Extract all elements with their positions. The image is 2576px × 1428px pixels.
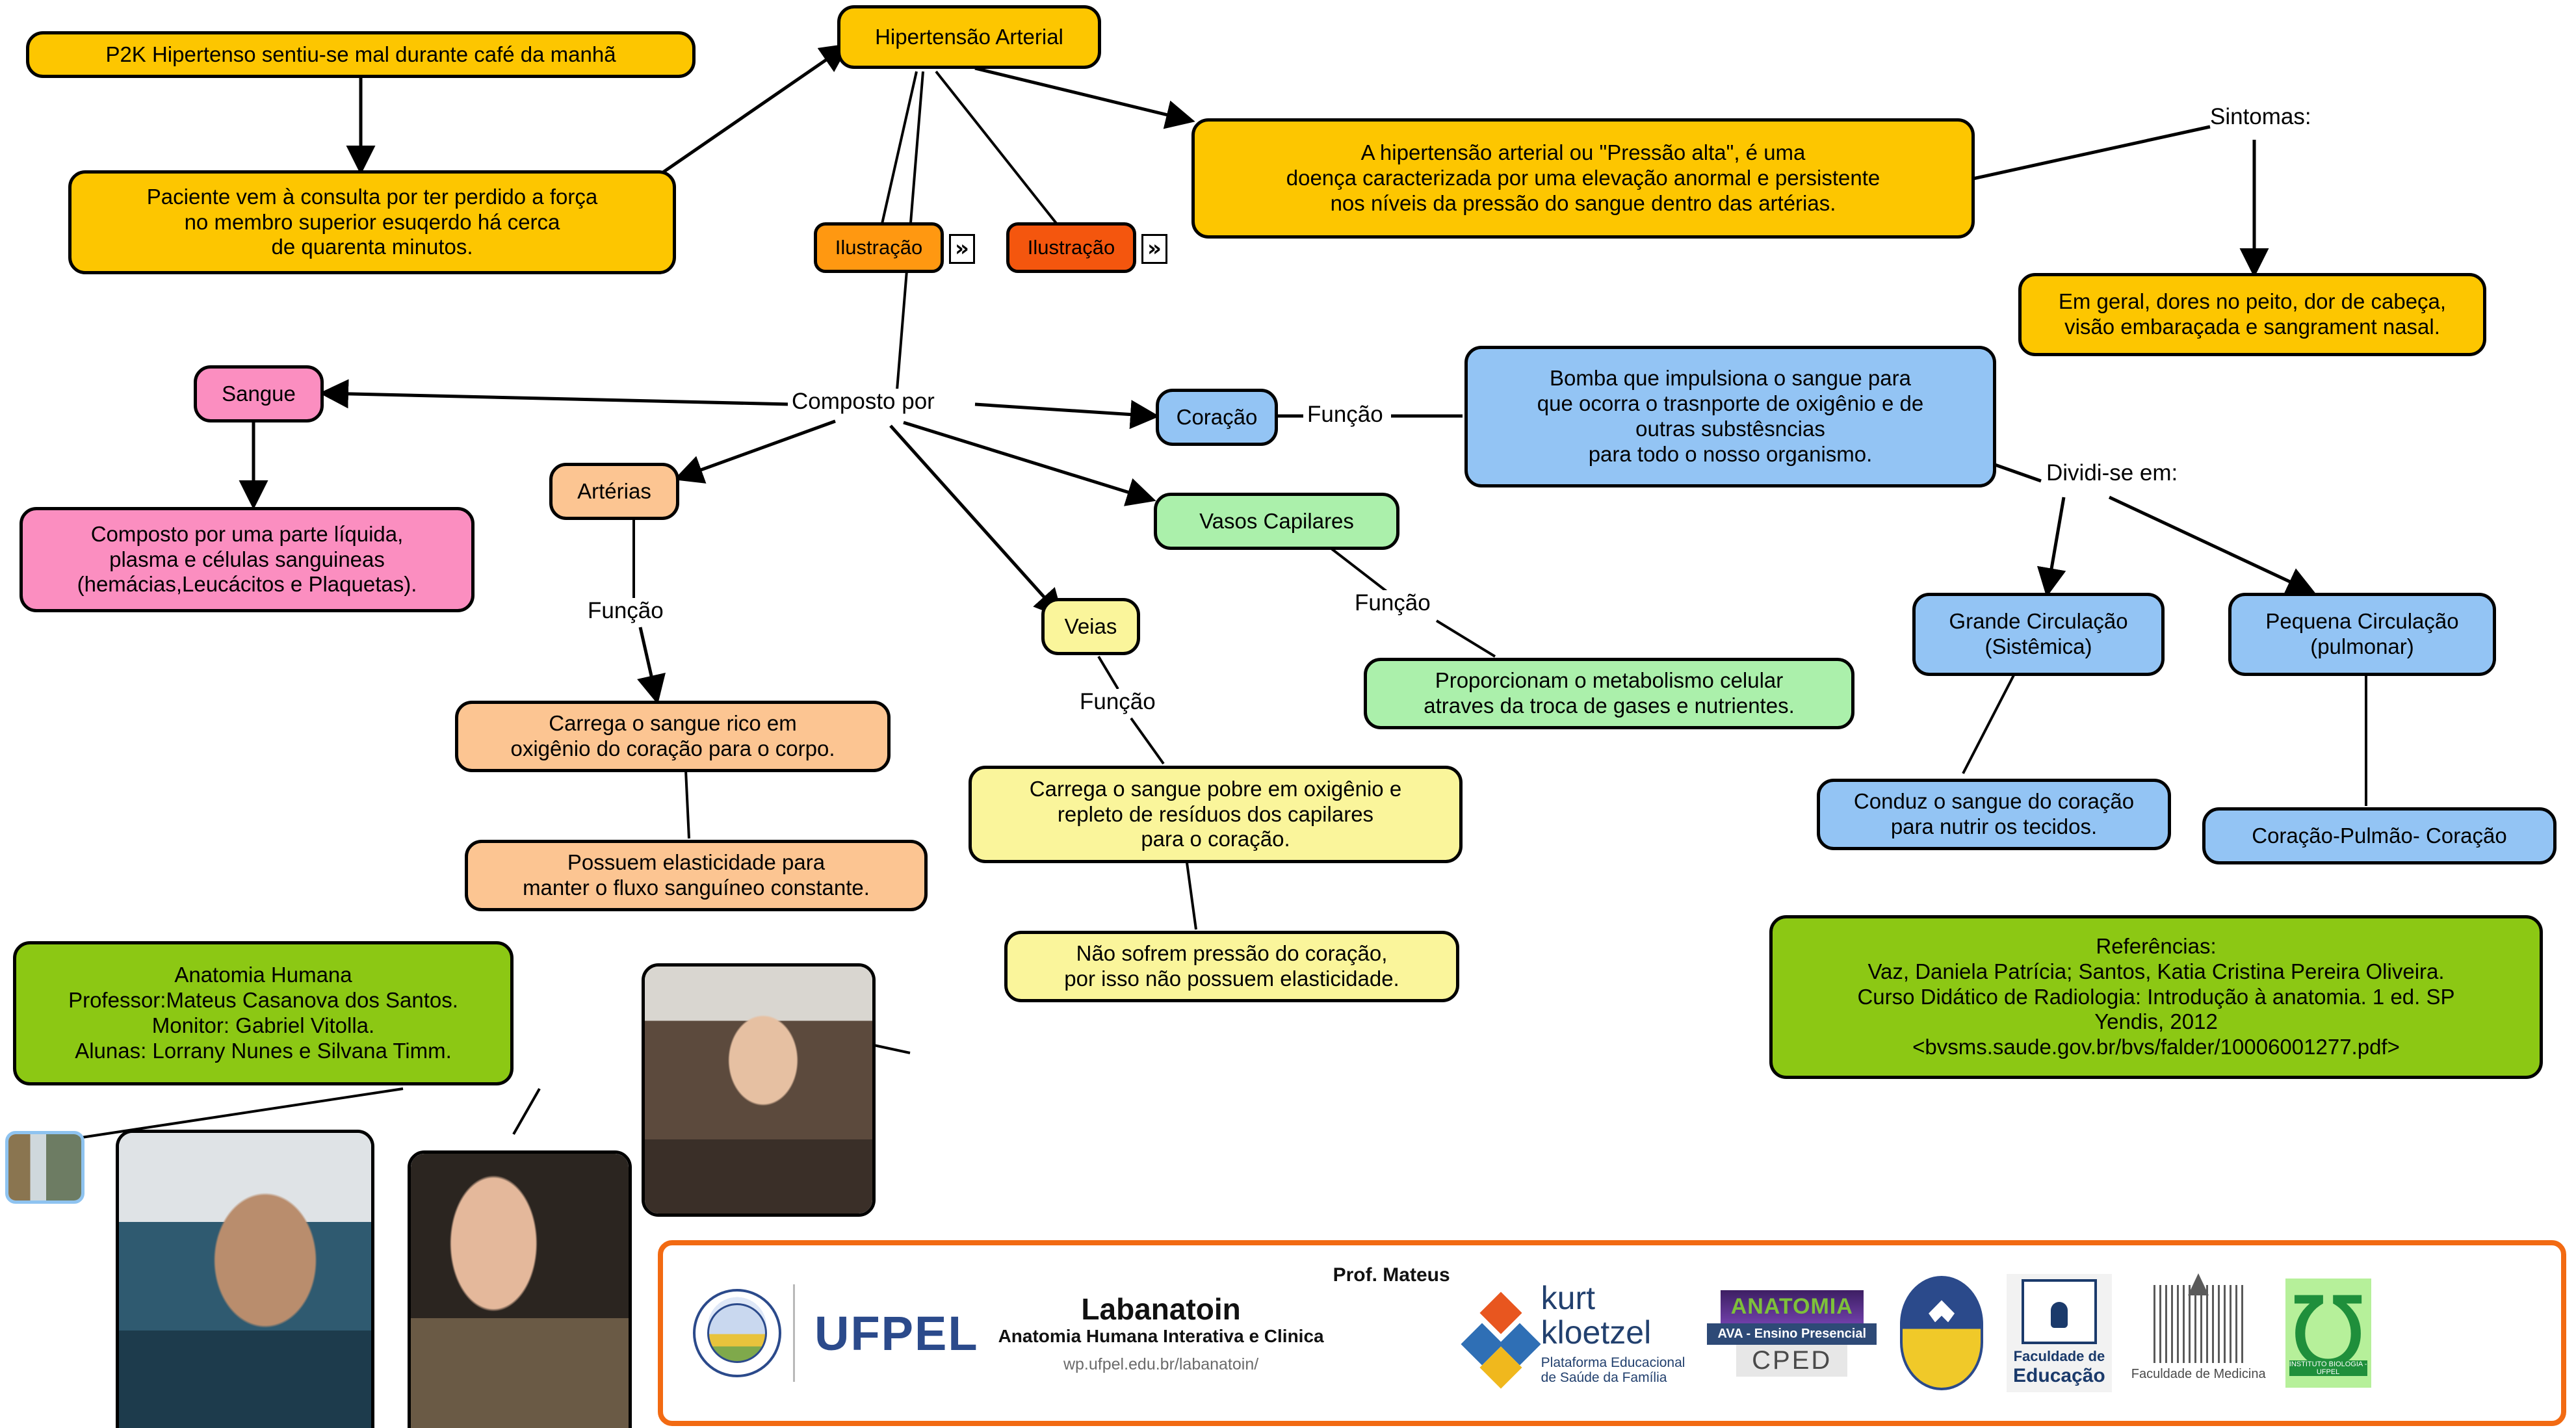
node-veias-funcao-2-label: Não sofrem pressão do coração, por isso … [1064, 941, 1399, 992]
node-sangue-label: Sangue [222, 382, 296, 407]
node-veias-label: Veias [1065, 614, 1117, 640]
node-coracao-funcao-1[interactable]: Bomba que impulsiona o sangue para que o… [1464, 346, 1996, 487]
node-sangue[interactable]: Sangue [194, 365, 324, 422]
kurt-diamond-icon [1467, 1293, 1535, 1373]
logo-ufpel-wordmark: UFPEL [814, 1245, 979, 1421]
node-coracao-label: Coração [1177, 405, 1258, 430]
logo-faculdade-medicina: Faculdade de Medicina [2131, 1245, 2266, 1421]
node-credits-label: Anatomia Humana Professor:Mateus Casanov… [68, 963, 458, 1064]
logo-faculdade-medicina-text: Faculdade de Medicina [2131, 1367, 2266, 1382]
node-veias-funcao-2[interactable]: Não sofrem pressão do coração, por isso … [1004, 931, 1459, 1002]
node-grande-circulacao-description-label: Conduz o sangue do coração para nutrir o… [1854, 789, 2134, 840]
node-root-hipertensao[interactable]: Hipertensão Arterial [837, 5, 1101, 69]
node-sangue-description[interactable]: Composto por uma parte líquida, plasma e… [20, 507, 475, 612]
photo-monitor[interactable] [116, 1130, 374, 1428]
resource-chevron-icon-2[interactable] [1141, 234, 1167, 264]
logo-anatomia-cped: ANATOMIA AVA - Ensino Presencial CPED [1707, 1245, 1877, 1421]
node-patient[interactable]: Paciente vem à consulta por ter perdido … [68, 170, 676, 274]
node-capilares-funcao-1[interactable]: Proporcionam o metabolismo celular atrav… [1364, 658, 1854, 729]
node-symptoms-label: Em geral, dores no peito, dor de cabeça,… [2059, 289, 2446, 340]
photo-thumbnail-small[interactable] [5, 1131, 85, 1204]
node-credits[interactable]: Anatomia Humana Professor:Mateus Casanov… [13, 941, 514, 1085]
logo-instituto-biologia: ℧ INSTITUTO BIOLOGIA - UFPEL [2285, 1245, 2371, 1421]
node-arterias-funcao-1[interactable]: Carrega o sangue rico em oxigênio do cor… [455, 701, 891, 772]
concept-map-canvas: P2K Hipertenso sentiu-se mal durante caf… [0, 0, 2576, 1428]
logo-ufpel-seal [693, 1245, 781, 1421]
logo-anatomia-title: ANATOMIA [1721, 1290, 1864, 1323]
node-arterias[interactable]: Artérias [549, 463, 679, 520]
node-ilustracao-1-label: Ilustração [835, 236, 922, 260]
faculdade-medicina-building-icon [2150, 1285, 2247, 1363]
logo-labanatoin-url: wp.ufpel.edu.br/labanatoin/ [1063, 1355, 1258, 1373]
photo-thumbnail-image [8, 1134, 81, 1201]
logo-kurt-kloetzel: kurt kloetzel Plataforma Educacional de … [1467, 1245, 1685, 1421]
logo-faculdade-educacao: Faculdade de Educação [2007, 1245, 2112, 1421]
node-grande-circulacao[interactable]: Grande Circulação (Sistêmica) [1912, 593, 2165, 676]
node-veias-funcao-1[interactable]: Carrega o sangue pobre em oxigênio e rep… [969, 766, 1463, 863]
node-sangue-description-label: Composto por uma parte líquida, plasma e… [77, 522, 417, 598]
logo-faculdade-educacao-line1: Faculdade de [2014, 1348, 2105, 1365]
faculdade-educacao-icon [2022, 1279, 2097, 1344]
node-pequena-circulacao-label: Pequena Circulação (pulmonar) [2265, 609, 2458, 660]
link-label-funcao-coracao: Função [1303, 402, 1387, 428]
logo-labanatoin-subtitle: Anatomia Humana Interativa e Clinica [998, 1326, 1324, 1346]
link-label-funcao-arterias: Função [584, 598, 668, 624]
photo-aluna-2-image [645, 967, 872, 1214]
node-symptoms[interactable]: Em geral, dores no peito, dor de cabeça,… [2018, 273, 2486, 356]
logo-labanatoin-name: Labanatoin [1081, 1293, 1240, 1327]
node-arterias-funcao-2-label: Possuem elasticidade para manter o fluxo… [523, 850, 870, 901]
node-definition[interactable]: A hipertensão arterial ou "Pressão alta"… [1191, 118, 1975, 239]
node-arterias-label: Artérias [577, 479, 651, 504]
partner-logo-bar: UFPEL Labanatoin Anatomia Humana Interat… [658, 1240, 2566, 1426]
node-definition-label: A hipertensão arterial ou "Pressão alta"… [1286, 140, 1880, 216]
node-capilares-funcao-1-label: Proporcionam o metabolismo celular atrav… [1424, 668, 1795, 719]
node-ilustracao-2[interactable]: Ilustração [1006, 222, 1136, 273]
node-case-label: P2K Hipertenso sentiu-se mal durante caf… [105, 42, 616, 68]
node-pequena-circulacao[interactable]: Pequena Circulação (pulmonar) [2228, 593, 2496, 676]
photo-monitor-image [119, 1133, 371, 1428]
node-coracao[interactable]: Coração [1156, 389, 1278, 446]
node-vasos-capilares-label: Vasos Capilares [1199, 509, 1354, 534]
logo-prof-mateus: Prof. Mateus [1333, 1227, 1450, 1428]
node-arterias-funcao-1-label: Carrega o sangue rico em oxigênio do cor… [511, 711, 835, 762]
node-arterias-funcao-2[interactable]: Possuem elasticidade para manter o fluxo… [465, 840, 928, 911]
link-label-composto-por: Composto por [788, 389, 939, 415]
node-veias[interactable]: Veias [1041, 598, 1140, 655]
resource-chevron-icon-1[interactable] [949, 234, 975, 264]
node-references[interactable]: Referências: Vaz, Daniela Patrícia; Sant… [1769, 915, 2543, 1079]
logo-labanatoin: Labanatoin Anatomia Humana Interativa e … [998, 1245, 1324, 1421]
logo-kurt-subtitle: Plataforma Educacional de Saúde da Famíl… [1541, 1356, 1685, 1384]
link-label-sintomas: Sintomas: [2210, 104, 2311, 130]
node-grande-circulacao-label: Grande Circulação (Sistêmica) [1949, 609, 2127, 660]
node-root-label: Hipertensão Arterial [875, 25, 1063, 50]
node-patient-label: Paciente vem à consulta por ter perdido … [147, 185, 597, 261]
logo-faculdade-educacao-line2: Educação [2013, 1365, 2105, 1387]
logo-kurt-line2: kloetzel [1541, 1316, 1685, 1350]
node-pequena-circulacao-description[interactable]: Coração-Pulmão- Coração [2202, 807, 2556, 864]
link-label-funcao-capilares: Função [1351, 590, 1435, 616]
node-vasos-capilares[interactable]: Vasos Capilares [1154, 493, 1399, 550]
logo-instituto-biologia-text: INSTITUTO BIOLOGIA - UFPEL [2289, 1360, 2367, 1376]
node-ilustracao-1[interactable]: Ilustração [814, 222, 944, 273]
node-grande-circulacao-description[interactable]: Conduz o sangue do coração para nutrir o… [1817, 779, 2171, 850]
logo-divider [793, 1284, 795, 1382]
node-pequena-circulacao-description-label: Coração-Pulmão- Coração [2252, 824, 2507, 849]
node-references-label: Referências: Vaz, Daniela Patrícia; Sant… [1857, 934, 2454, 1061]
logo-ufpel-wordmark-text: UFPEL [814, 1306, 979, 1361]
node-case[interactable]: P2K Hipertenso sentiu-se mal durante caf… [26, 31, 696, 78]
node-veias-funcao-1-label: Carrega o sangue pobre em oxigênio e rep… [1030, 777, 1401, 853]
logo-anatomia-subtitle: AVA - Ensino Presencial [1707, 1323, 1877, 1345]
photo-aluna-1-image [411, 1154, 629, 1428]
node-coracao-funcao-1-label: Bomba que impulsiona o sangue para que o… [1537, 366, 1923, 467]
logo-crest [1900, 1245, 1983, 1421]
logo-prof-mateus-text: Prof. Mateus [1333, 1264, 1450, 1286]
node-ilustracao-2-label: Ilustração [1028, 236, 1115, 260]
logo-kurt-line1: kurt [1541, 1281, 1685, 1316]
link-label-funcao-veias: Função [1076, 689, 1160, 715]
photo-aluna-1[interactable] [408, 1150, 632, 1428]
logo-cped-text: CPED [1736, 1345, 1847, 1377]
photo-aluna-2[interactable] [642, 963, 876, 1217]
link-label-dividi-se-em: Dividi-se em: [2042, 460, 2181, 486]
